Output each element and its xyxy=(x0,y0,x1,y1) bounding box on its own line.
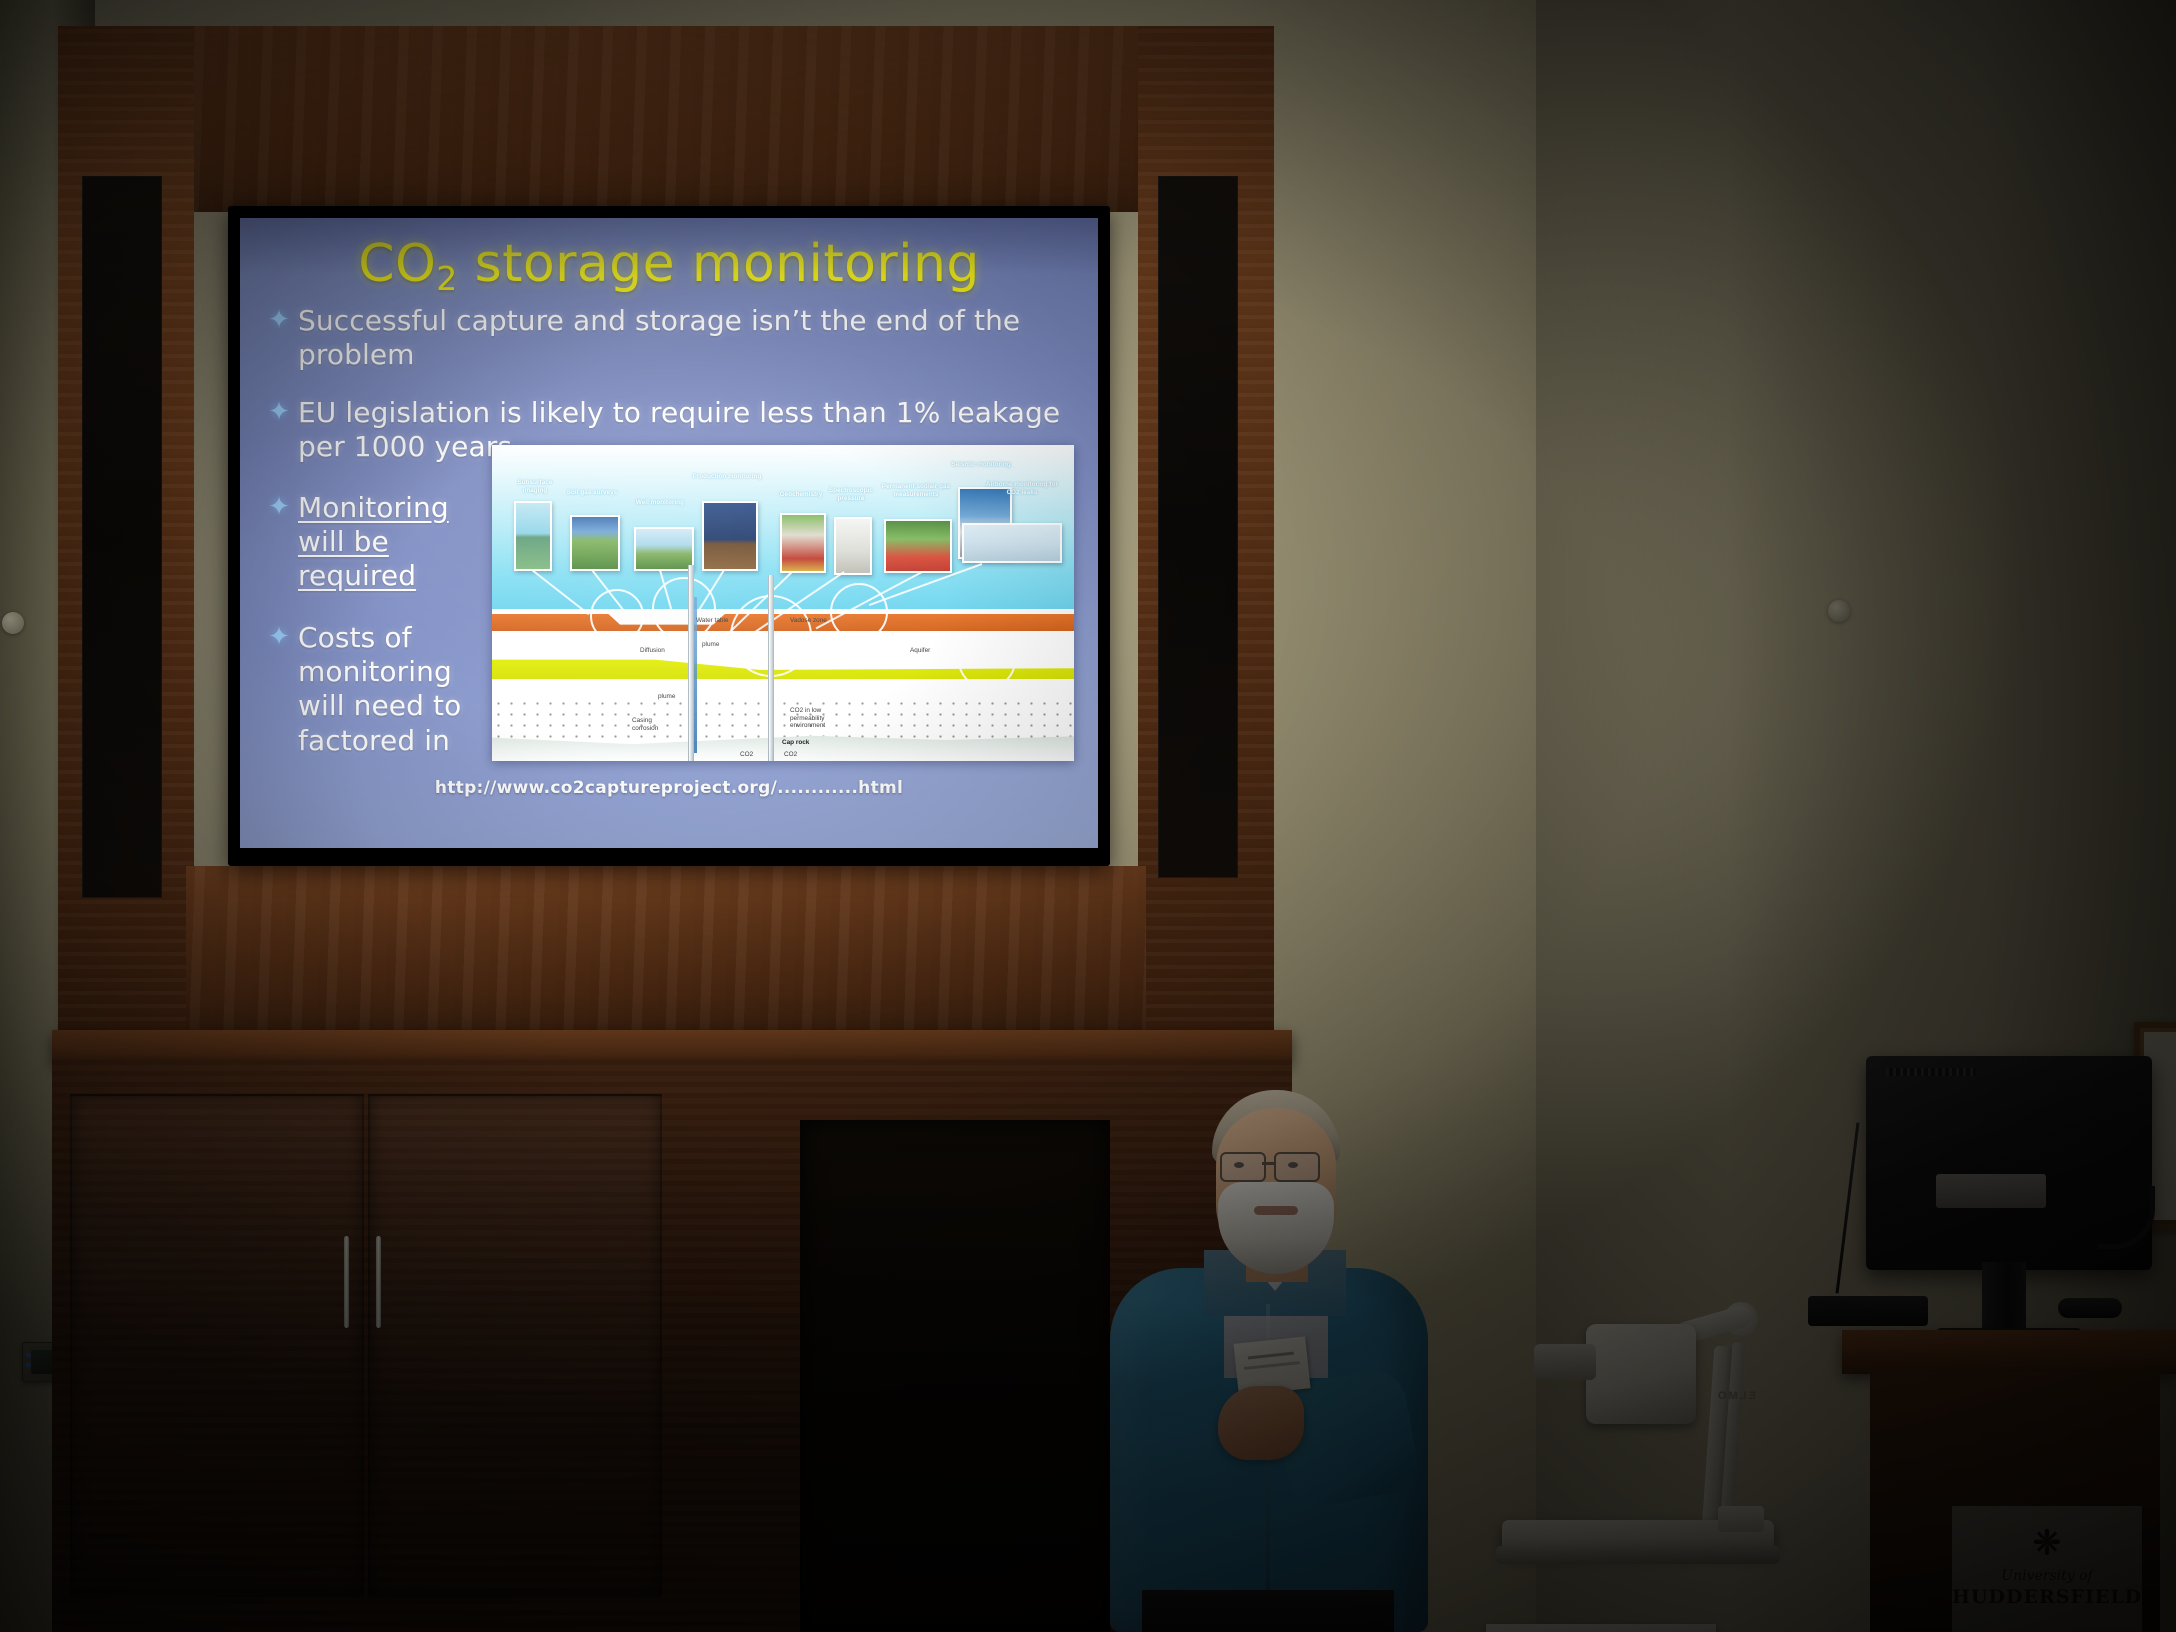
wall-vignette xyxy=(0,0,2176,1632)
lecture-theatre-photo: CO2 storage monitoring ✦ Successful capt… xyxy=(0,0,2176,1632)
